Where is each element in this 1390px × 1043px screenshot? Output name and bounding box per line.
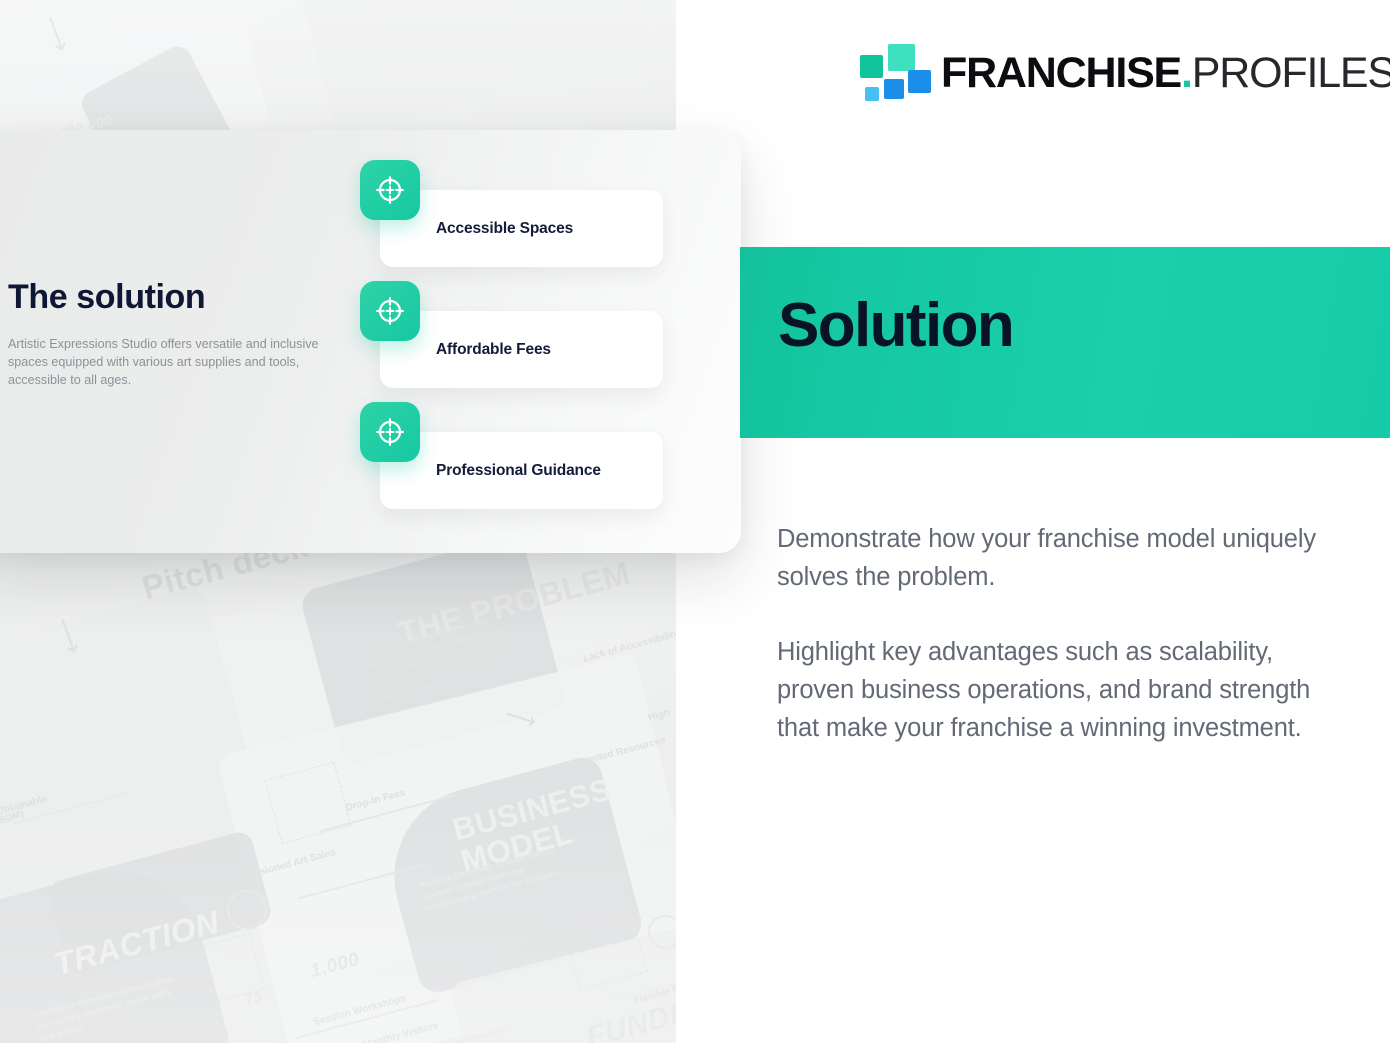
slide-preview-text-block: The solution Artistic Expressions Studio…: [8, 280, 338, 389]
feature-row-affordable-fees[interactable]: Affordable Fees: [380, 311, 663, 388]
feature-label: Professional Guidance: [436, 462, 601, 480]
slide-preview-title: The solution: [8, 280, 338, 316]
crosshair-target-icon: [360, 281, 420, 341]
feature-row-accessible-spaces[interactable]: Accessible Spaces: [380, 190, 663, 267]
description-paragraph-2: Highlight key advantages such as scalabi…: [777, 634, 1322, 747]
section-description: Demonstrate how your franchise model uni…: [777, 521, 1322, 748]
brand-wordmark: FRANCHISE.PROFILES: [941, 52, 1390, 95]
feature-card[interactable]: Accessible Spaces: [380, 190, 663, 267]
brand-logo[interactable]: FRANCHISE.PROFILES: [851, 40, 1390, 106]
wordmark-franchise: FRANCHISE: [941, 49, 1181, 97]
feature-label: Accessible Spaces: [436, 220, 573, 238]
logo-square-blue-small: [884, 79, 904, 99]
franchise-profiles-logo-icon: [851, 41, 909, 105]
description-paragraph-1: Demonstrate how your franchise model uni…: [777, 521, 1322, 596]
feature-row-professional-guidance[interactable]: Professional Guidance: [380, 432, 663, 509]
wordmark-profiles: PROFILES: [1192, 49, 1390, 97]
logo-square-mint: [888, 44, 915, 71]
feature-card[interactable]: Affordable Fees: [380, 311, 663, 388]
logo-square-green: [860, 55, 883, 78]
feature-card[interactable]: Professional Guidance: [380, 432, 663, 509]
ghost-circle-icon: [648, 915, 676, 949]
wordmark-dot: .: [1181, 49, 1192, 97]
page-title: Solution: [778, 295, 1013, 357]
crosshair-target-icon: [360, 160, 420, 220]
section-heading-band: Solution: [740, 247, 1390, 438]
crosshair-target-icon: [360, 402, 420, 462]
ghost-circle-icon: [227, 890, 267, 930]
deck-sheet: [273, 0, 656, 136]
logo-square-lightblue: [865, 87, 879, 101]
logo-square-blue: [908, 70, 931, 93]
ghost-label-high: High: [647, 707, 671, 723]
slide-preview-card[interactable]: The solution Artistic Expressions Studio…: [0, 130, 741, 553]
slide-preview-subtitle: Artistic Expressions Studio offers versa…: [8, 335, 324, 390]
slide-canvas: Pitch deck THE PROBLEM BUSINESS MODEL TR…: [0, 0, 1390, 1043]
feature-label: Affordable Fees: [436, 341, 551, 359]
